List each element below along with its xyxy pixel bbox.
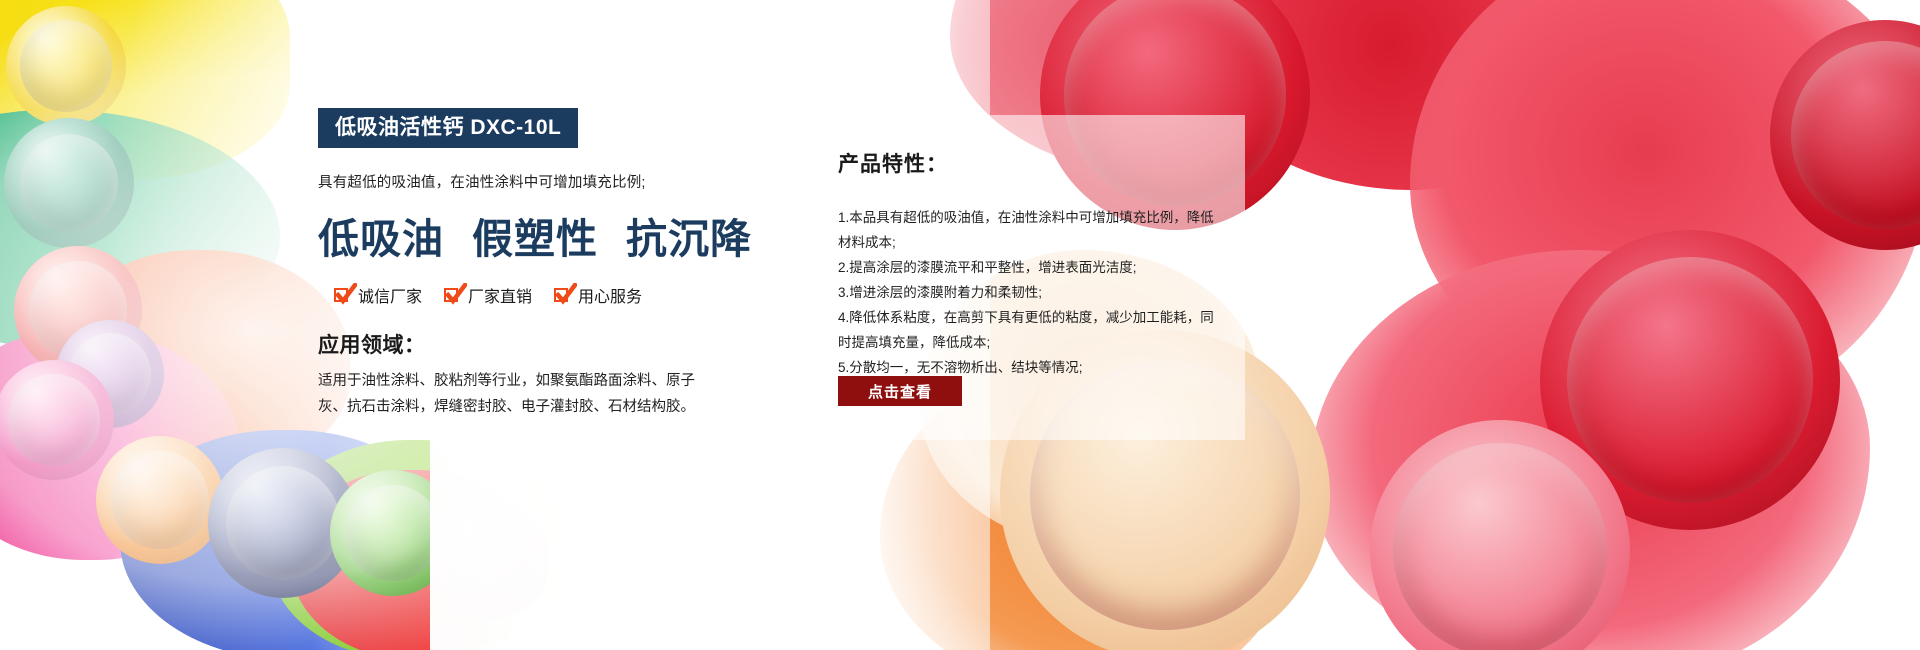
feature-item: 1.本品具有超低的吸油值，在油性涂料中可增加填充比例，降低材料成本; <box>838 205 1220 255</box>
left-copy-column: 低吸油活性钙 DXC-10L 具有超低的吸油值，在油性涂料中可增加填充比例; 低… <box>318 108 748 420</box>
trust-badge-item: 用心服务 <box>554 283 642 307</box>
headline-word-3: 抗沉降 <box>626 216 752 262</box>
product-headline: 低吸油假塑性抗沉降 <box>318 205 748 265</box>
feature-item: 4.降低体系粘度，在高剪下具有更低的粘度，减少加工能耗，同时提高填充量，降低成本… <box>838 305 1220 355</box>
product-features-title: 产品特性： <box>838 148 1238 178</box>
feature-item: 3.增进涂层的漆膜附着力和柔韧性; <box>838 280 1220 305</box>
trust-badge-item: 诚信厂家 <box>334 283 422 307</box>
view-details-button[interactable]: 点击查看 <box>838 376 962 406</box>
trust-badge-item: 厂家直销 <box>444 283 532 307</box>
product-title-chip: 低吸油活性钙 DXC-10L <box>318 108 578 148</box>
headline-word-1: 低吸油 <box>318 216 444 262</box>
trust-badge-label: 用心服务 <box>578 283 642 307</box>
checkbox-checked-icon <box>444 287 461 304</box>
checkbox-checked-icon <box>554 287 571 304</box>
product-features-list: 1.本品具有超低的吸油值，在油性涂料中可增加填充比例，降低材料成本; 2.提高涂… <box>838 205 1220 380</box>
product-subline: 具有超低的吸油值，在油性涂料中可增加填充比例; <box>318 171 748 192</box>
headline-word-2: 假塑性 <box>472 216 598 262</box>
feature-item: 2.提高涂层的漆膜流平和平整性，增进表面光洁度; <box>838 255 1220 280</box>
trust-badge-list: 诚信厂家 厂家直销 用心服务 <box>334 283 748 307</box>
product-features-inner: 产品特性： 1.本品具有超低的吸油值，在油性涂料中可增加填充比例，降低材料成本;… <box>838 148 1238 380</box>
checkbox-checked-icon <box>334 287 351 304</box>
banner-stage: 低吸油活性钙 DXC-10L 具有超低的吸油值，在油性涂料中可增加填充比例; 低… <box>0 0 1920 650</box>
trust-badge-label: 诚信厂家 <box>358 283 422 307</box>
application-field-title: 应用领域： <box>318 329 748 359</box>
trust-badge-label: 厂家直销 <box>468 283 532 307</box>
application-field-body: 适用于油性涂料、胶粘剂等行业，如聚氨酯路面涂料、原子灰、抗石击涂料，焊缝密封胶、… <box>318 368 713 420</box>
